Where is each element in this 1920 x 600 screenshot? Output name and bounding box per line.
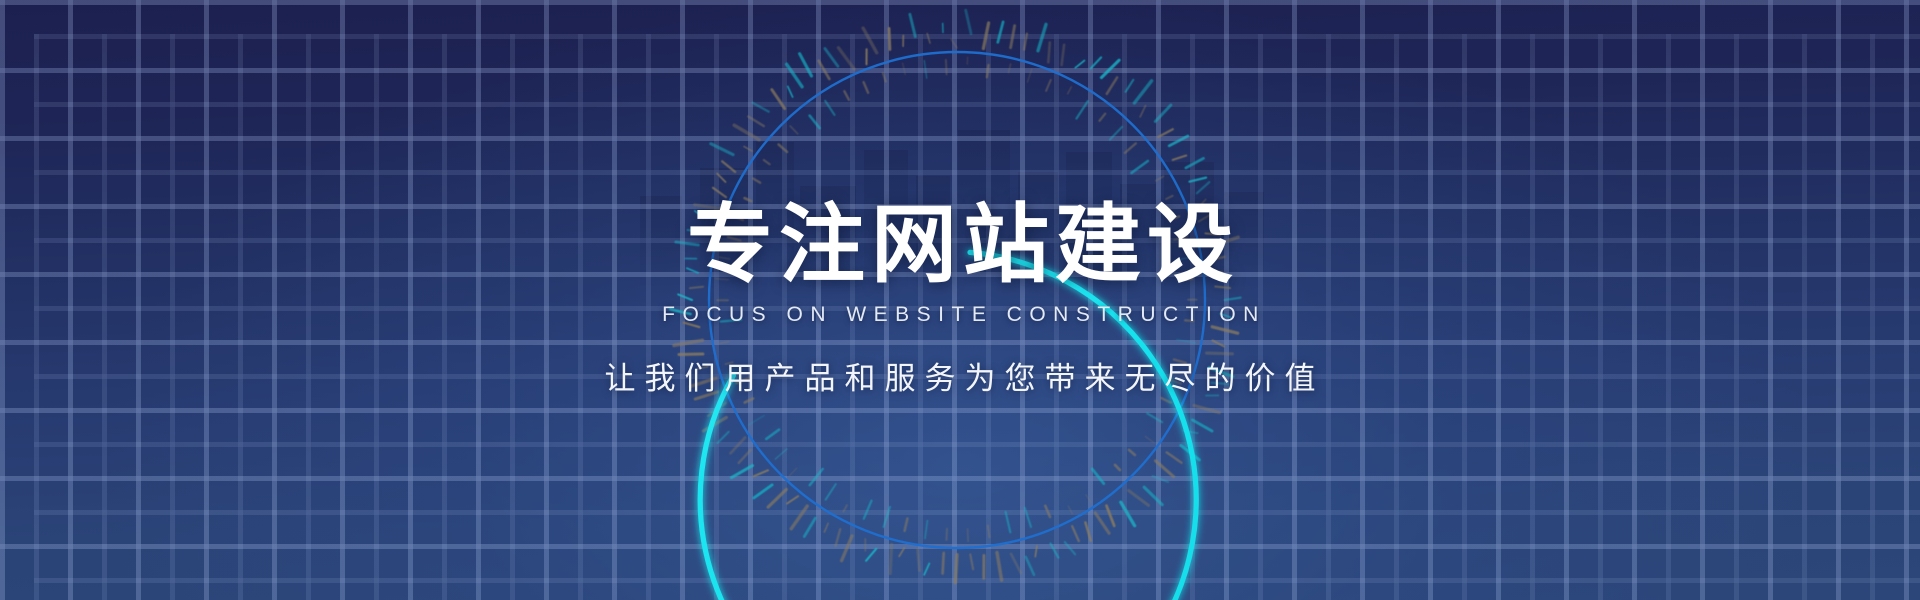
- banner-copy: 专注网站建设 FOCUS ON WEBSITE CONSTRUCTION 让我们…: [0, 0, 1920, 600]
- banner-headline: 专注网站建设: [681, 202, 1239, 290]
- banner-subtitle-en: FOCUS ON WEBSITE CONSTRUCTION: [654, 303, 1266, 327]
- hero-banner: 专注网站建设 FOCUS ON WEBSITE CONSTRUCTION 让我们…: [0, 0, 1920, 600]
- banner-subtitle-cn: 让我们用产品和服务为您带来无尽的价值: [596, 353, 1325, 398]
